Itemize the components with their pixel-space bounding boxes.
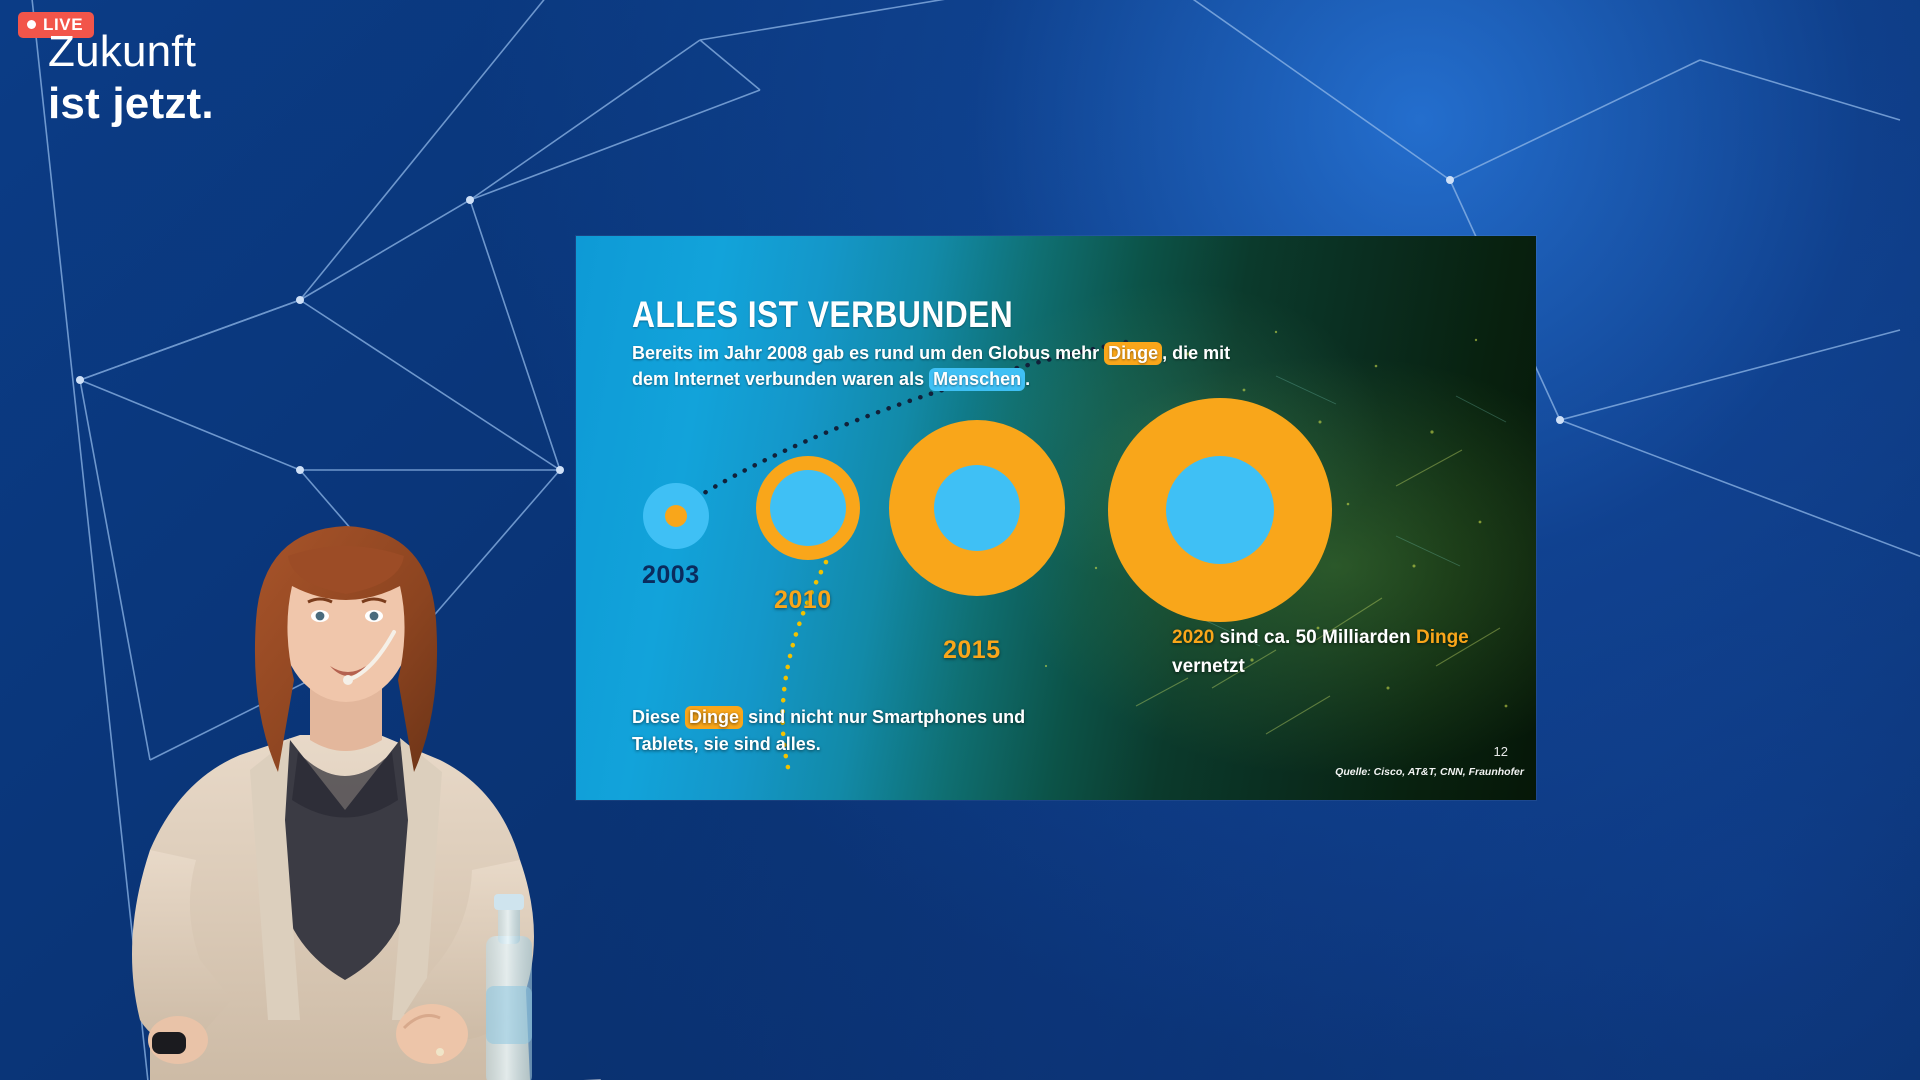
slide-headline: ALLES IST VERBUNDEN [632, 294, 1013, 336]
presentation-slide: ALLES IST VERBUNDEN Bereits im Jahr 2008… [576, 236, 1536, 800]
intro-part3: . [1025, 369, 1030, 389]
presenter-speaker [0, 380, 640, 1080]
slide-source-note: Quelle: Cisco, AT&T, CNN, Fraunhofer [1335, 766, 1524, 778]
bubble-inner-2010 [770, 470, 846, 546]
bubble-label-2003: 2003 [642, 561, 700, 590]
broadcast-title-line2: ist jetzt. [48, 76, 214, 131]
caption-dinge: Dinge [1416, 627, 1469, 648]
broadcast-stage: LIVE Zukunft ist jetzt. [0, 0, 1920, 1080]
slide-bottom-caption: Diese Dinge sind nicht nur Smartphones u… [632, 704, 1092, 758]
intro-part1: Bereits im Jahr 2008 gab es rund um den … [632, 343, 1104, 363]
bubble-inner-2020 [1166, 456, 1274, 564]
bubble-label-2010: 2010 [774, 586, 832, 615]
intro-highlight-menschen: Menschen [929, 368, 1025, 391]
caption-middle: sind ca. 50 Milliarden [1214, 627, 1416, 648]
slide-page-number: 12 [1494, 744, 1508, 759]
intro-highlight-dinge: Dinge [1104, 342, 1162, 365]
bubble-label-2015: 2015 [943, 636, 1001, 665]
broadcast-title: Zukunft ist jetzt. [48, 28, 214, 131]
caption-end: vernetzt [1172, 656, 1245, 677]
live-dot-icon [27, 20, 36, 29]
bottom-highlight-dinge: Dinge [685, 706, 743, 729]
caption-year-2020: 2020 [1172, 627, 1214, 648]
bottom-part1: Diese [632, 707, 685, 727]
slide-right-caption: 2020 sind ca. 50 Milliarden Dinge vernet… [1172, 624, 1502, 681]
broadcast-title-line1: Zukunft [48, 28, 214, 76]
bubble-dot-2003 [665, 505, 687, 527]
bubble-inner-2015 [934, 465, 1020, 551]
slide-intro-text: Bereits im Jahr 2008 gab es rund um den … [632, 340, 1232, 392]
